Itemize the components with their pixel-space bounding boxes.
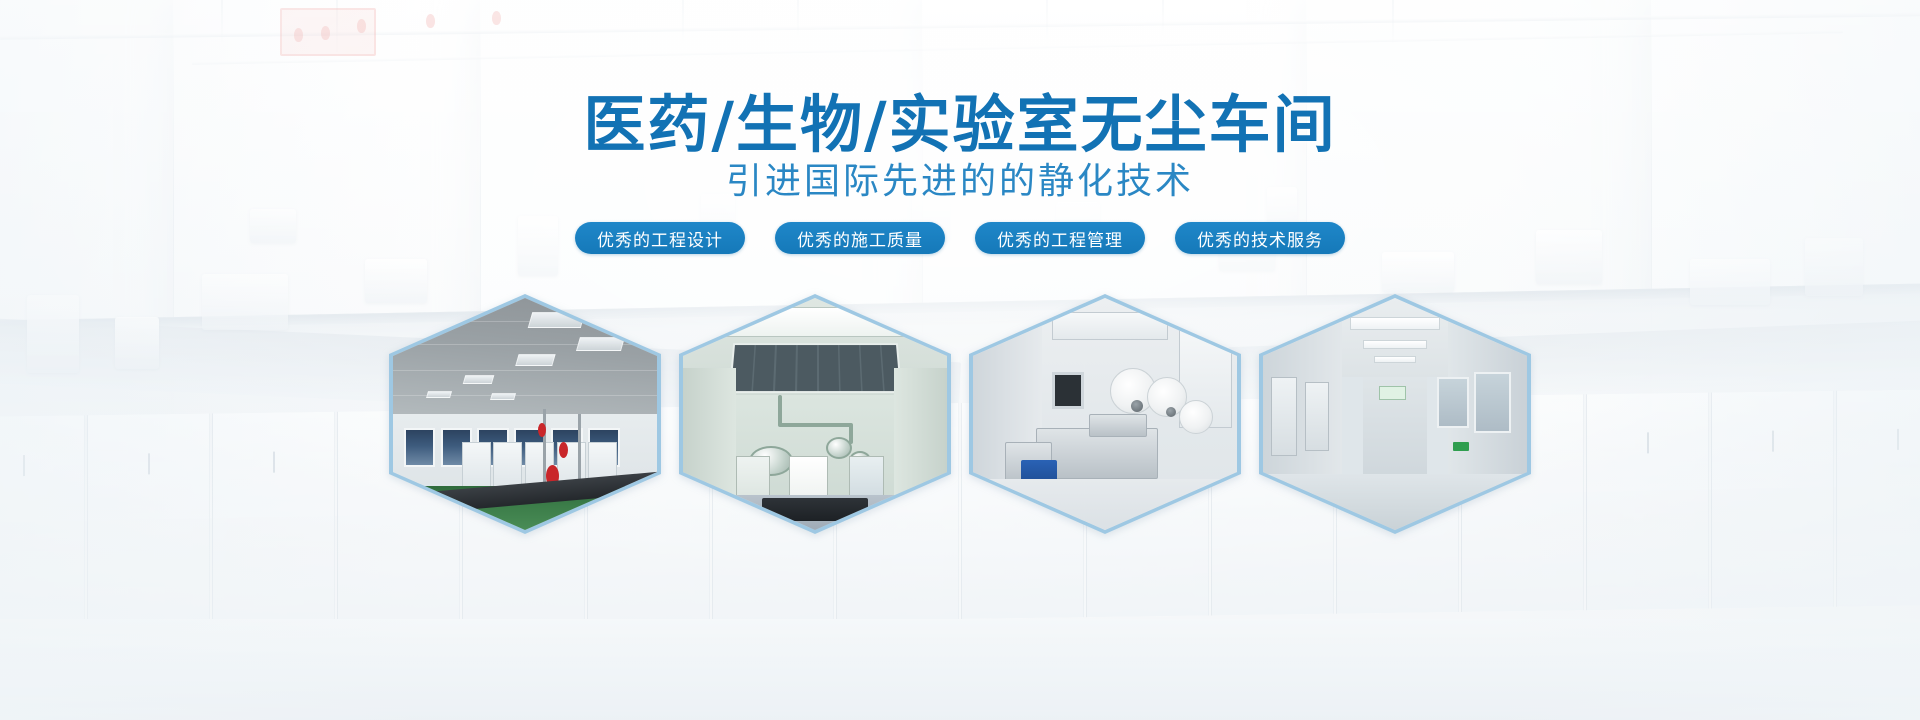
scene-ceiling-line [393,370,657,371]
scene-ceiling-light [463,375,495,384]
scene-control-window [1052,372,1084,409]
hexagon-thumbnail-laboratory[interactable] [389,294,661,534]
banner-subtitle: 引进国际先进的的静化技术 [0,152,1920,204]
hexagon-thumbnail-production-machinery[interactable] [969,294,1241,534]
scene-window [1437,377,1469,428]
scene-clean-corridor [1263,298,1527,530]
scene-ceiling-light [1350,317,1440,331]
scene-green-indicator [1453,442,1469,451]
hexagon-image-clean-corridor [1263,298,1527,530]
scene-operating-theatre [683,298,947,530]
scene-material-roll [1179,400,1213,434]
scene-exit-sign [1379,386,1405,400]
feature-pill-technical-service[interactable]: 优秀的技术服务 [1175,222,1345,254]
scene-floor [973,479,1237,530]
scene-surgical-lamp [826,437,852,459]
scene-surgical-arm [778,423,852,427]
scene-production-machinery [973,298,1237,530]
scene-ceiling-light [576,337,625,351]
hexagon-image-laboratory [393,298,657,530]
scene-ceiling-grid [728,343,902,393]
hero-banner: 医药/生物/实验室无尘车间 引进国际先进的的静化技术 优秀的工程设计 优秀的施工… [0,0,1920,720]
scene-ceiling-light [426,391,452,398]
scene-machine [1089,414,1147,437]
scene-laboratory [393,298,657,530]
scene-skylight [720,307,910,337]
feature-pill-engineering-design[interactable]: 优秀的工程设计 [575,222,745,254]
hexagon-thumbnail-operating-theatre[interactable] [679,294,951,534]
scene-ceiling-light [1374,356,1416,363]
banner-title: 医药/生物/实验室无尘车间 [0,74,1920,164]
scene-ceiling-light [1363,340,1426,349]
scene-surgical-arm [849,423,853,444]
scene-ceiling-line [393,321,657,322]
hexagon-gallery [0,294,1920,534]
scene-ceiling-light [515,354,555,366]
hexagon-thumbnail-clean-corridor[interactable] [1259,294,1531,534]
hexagon-image-operating-theatre [683,298,947,530]
scene-floor [1263,474,1527,530]
scene-door [1271,377,1297,456]
feature-pill-project-management[interactable]: 优秀的工程管理 [975,222,1145,254]
scene-roll-hub [1166,407,1176,417]
scene-window [404,428,436,467]
scene-pole [578,414,581,484]
feature-pill-row: 优秀的工程设计 优秀的施工质量 优秀的工程管理 优秀的技术服务 [0,222,1920,254]
scene-surgical-arm [778,395,782,425]
hexagon-image-production-machinery [973,298,1237,530]
scene-ceiling-light [490,393,516,400]
banner-content: 医药/生物/实验室无尘车间 引进国际先进的的静化技术 优秀的工程设计 优秀的施工… [0,0,1920,720]
scene-door [1305,382,1329,452]
scene-window [1474,372,1511,432]
feature-pill-construction-quality[interactable]: 优秀的施工质量 [775,222,945,254]
